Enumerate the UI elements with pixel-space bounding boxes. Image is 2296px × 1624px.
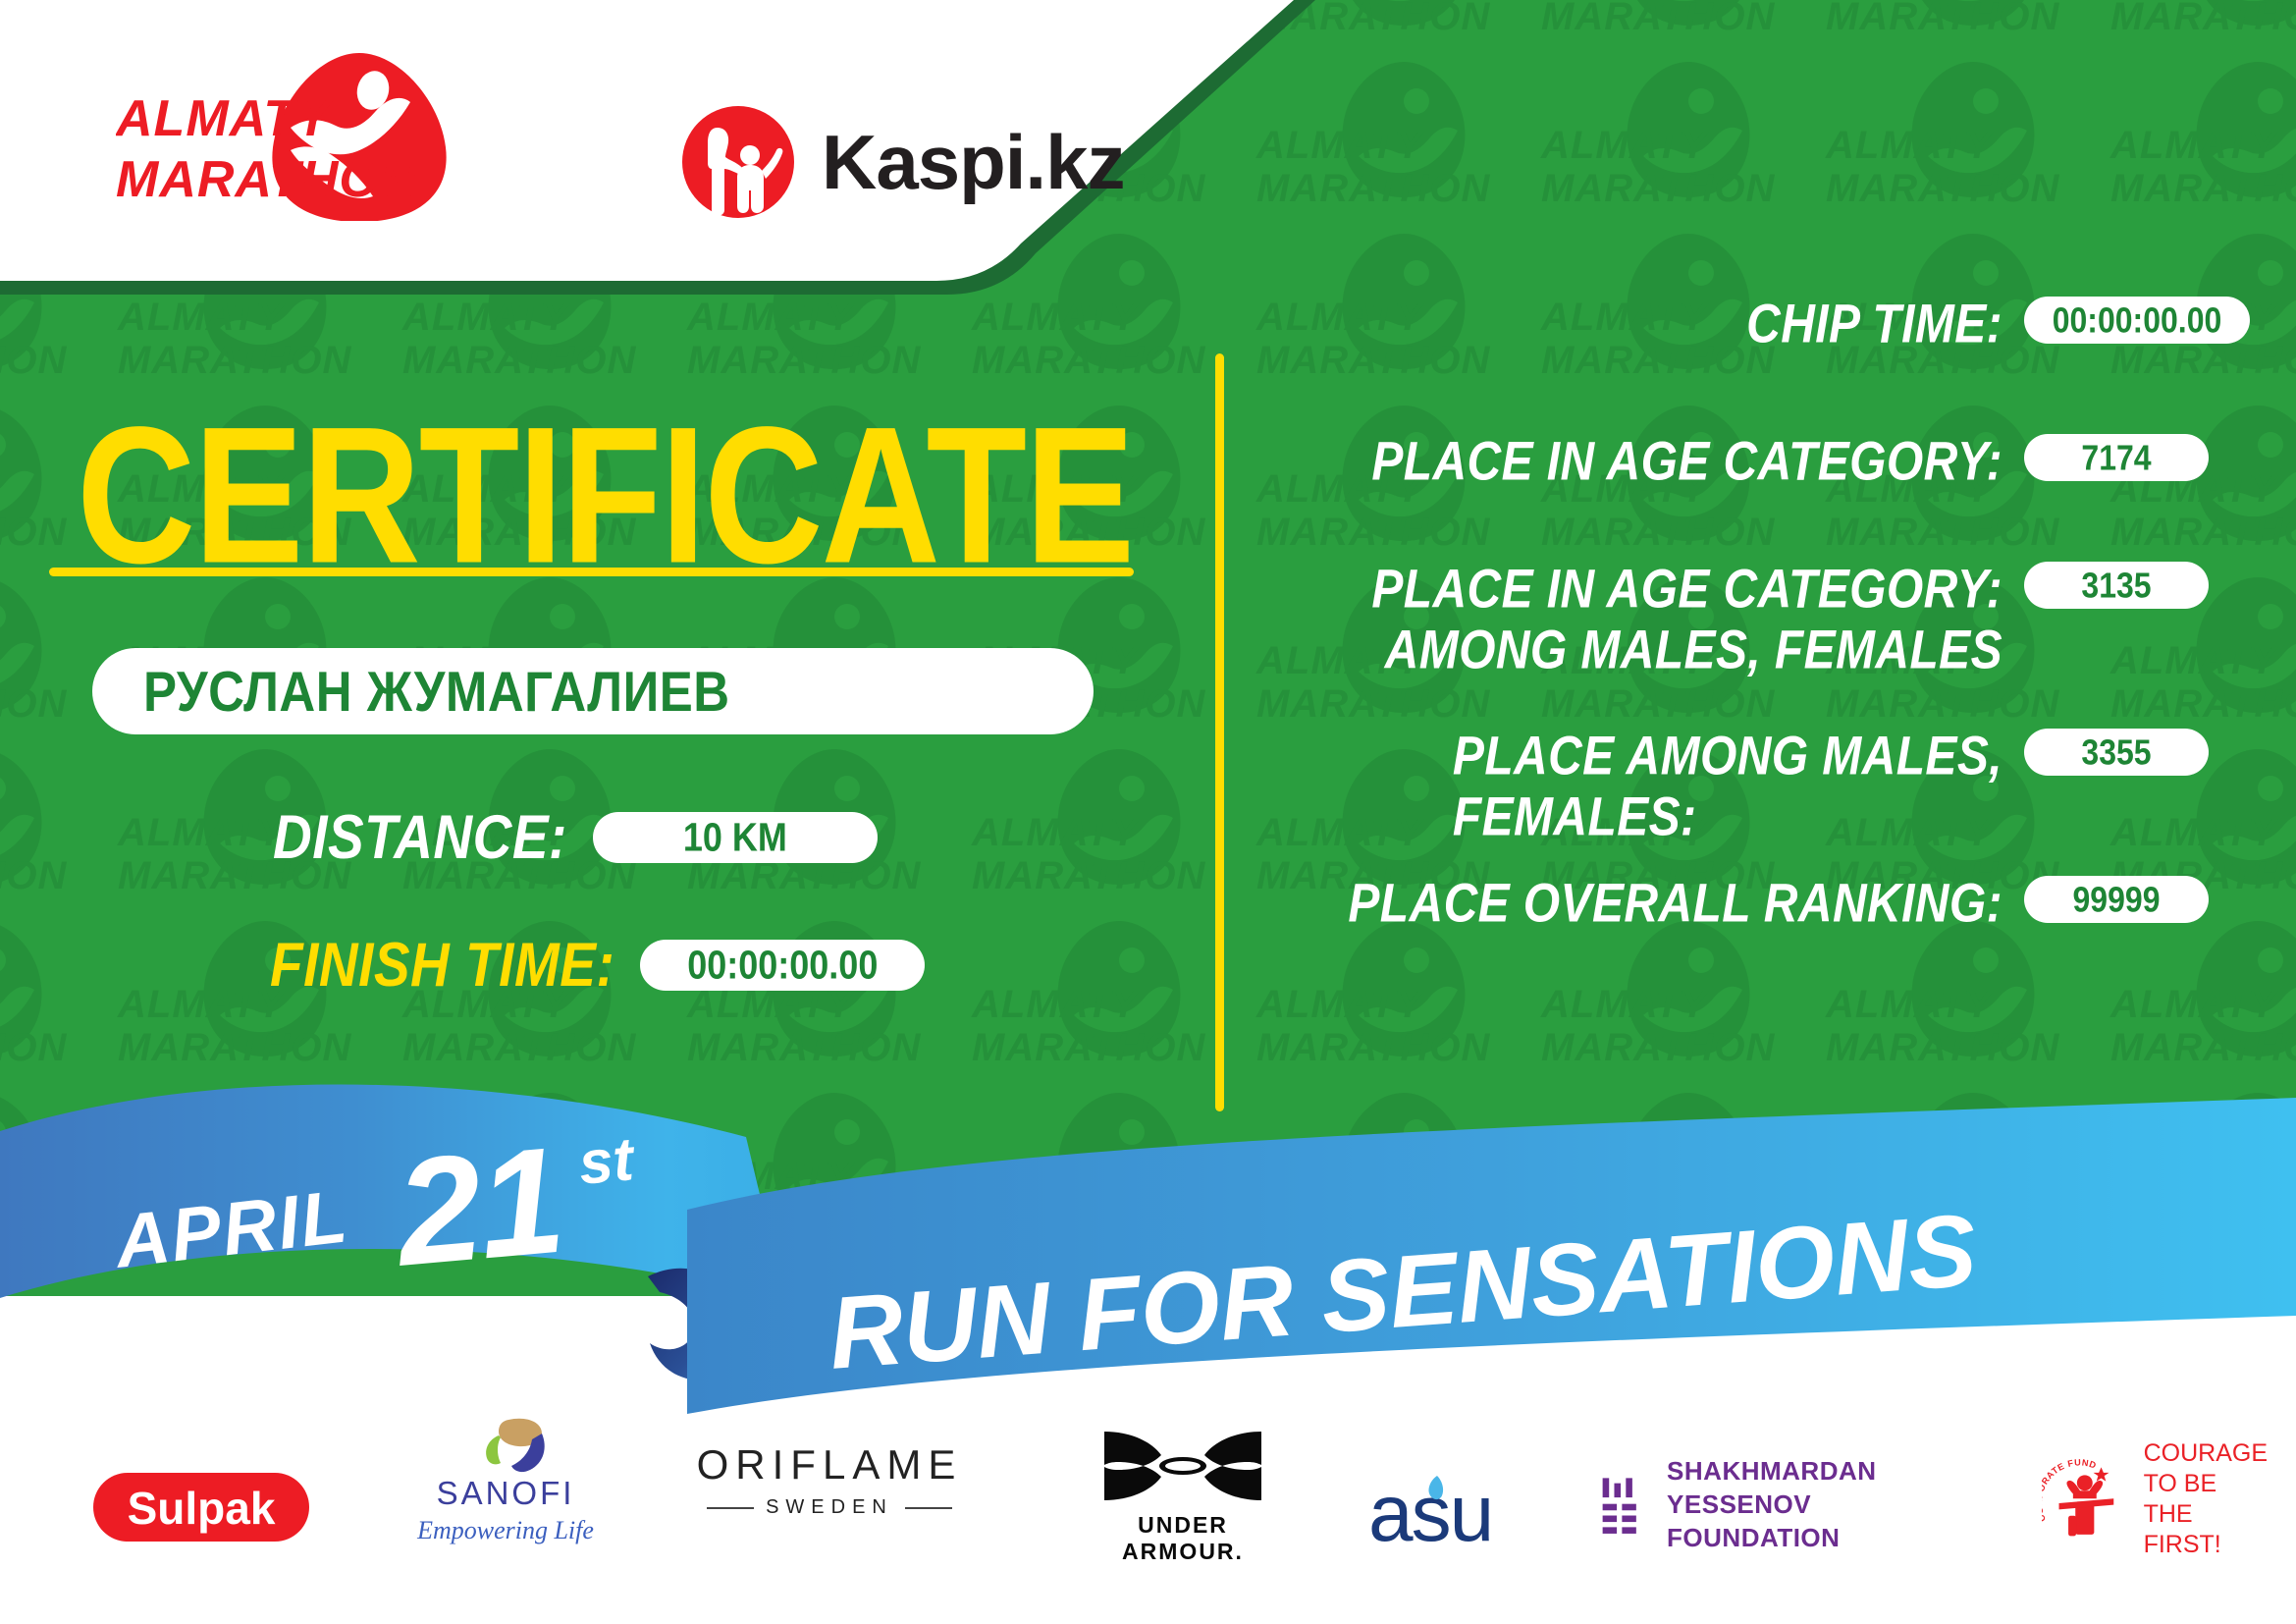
stat-label-wrap: PLACE AMONG MALES, FEMALES: <box>1276 727 2002 833</box>
sponsor-logo-strip: Sulpak SANOFI Empowering Life ORIFLAME S… <box>0 1414 2296 1610</box>
column-divider <box>1215 353 1224 1111</box>
stat-pill: 99999 <box>2024 876 2209 923</box>
stat-value: 7174 <box>2081 437 2151 477</box>
asu-wordmark: asu <box>1368 1469 1492 1554</box>
sponsor-sanofi: SANOFI Empowering Life <box>393 1414 618 1561</box>
stat-label-wrap: PLACE OVERALL RANKING: <box>1276 874 2002 927</box>
asu-logo: asu <box>1364 1464 1541 1554</box>
stat-label: PLACE IN AGE CATEGORY: AMONG MALES, FEMA… <box>1371 560 2002 681</box>
distance-pill: 10 KM <box>593 812 878 863</box>
stat-pill: 00:00:00.00 <box>2024 297 2250 344</box>
almaty-marathon-logo-svg: ALMATY MARATHON <box>116 49 450 221</box>
stat-label: PLACE OVERALL RANKING: <box>1348 874 2002 935</box>
distance-row: DISTANCE: 10 KM <box>273 810 878 864</box>
sponsor-oriflame: ORIFLAME SWEDEN <box>687 1441 972 1589</box>
certificate-canvas: ALMATY MARATHON <box>0 0 2296 1624</box>
stat-value: 00:00:00.00 <box>2053 299 2222 340</box>
participant-name-value: РУСЛАН ЖУМАГАЛИЕВ <box>143 659 730 724</box>
stat-pill: 3135 <box>2024 562 2209 609</box>
stat-label: PLACE AMONG MALES, FEMALES: <box>1453 727 2002 848</box>
sponsor-courage-to-be-first: CORPORATE FUND COURAGE TO BE THE FIRST! <box>2042 1426 2268 1573</box>
oriflame-rule-right <box>905 1507 952 1509</box>
almaty-wordmark-line2: MARATHON <box>116 151 418 208</box>
almaty-marathon-logo: ALMATY MARATHON <box>116 49 450 221</box>
sponsor-asu: asu <box>1364 1435 1541 1583</box>
kaspi-wordmark: Kaspi.kz <box>822 124 1124 200</box>
title-underline-rule <box>49 568 1134 576</box>
sanofi-wordmark: SANOFI <box>393 1475 618 1512</box>
oriflame-country: SWEDEN <box>766 1496 893 1519</box>
finish-time-row: FINISH TIME: 00:00:00.00 <box>270 938 925 992</box>
finish-time-value: 00:00:00.00 <box>687 942 878 988</box>
stat-label-wrap: PLACE IN AGE CATEGORY: AMONG MALES, FEMA… <box>1276 560 2002 666</box>
kaspi-people-circle-icon <box>677 104 800 220</box>
stat-row: CHIP TIME: 00:00:00.00 <box>1276 295 2296 348</box>
stat-pill: 3355 <box>2024 729 2209 776</box>
stat-row: PLACE IN AGE CATEGORY: 7174 <box>1276 432 2296 485</box>
stat-row: PLACE AMONG MALES, FEMALES: 3355 <box>1276 727 2296 833</box>
stat-row: PLACE OVERALL RANKING: 99999 <box>1276 874 2296 927</box>
stat-label-wrap: CHIP TIME: <box>1276 295 2002 348</box>
stat-pill: 7174 <box>2024 434 2209 481</box>
sanofi-tagline: Empowering Life <box>393 1516 618 1545</box>
ribbon-day-number: 21 <box>390 1113 568 1301</box>
stat-row: PLACE IN AGE CATEGORY: AMONG MALES, FEMA… <box>1276 560 2296 666</box>
sulpak-wordmark: Sulpak <box>128 1483 276 1534</box>
kaspi-logo: Kaspi.kz <box>677 103 1090 221</box>
stat-value: 99999 <box>2073 879 2161 919</box>
under-armour-wordmark: UNDER ARMOUR. <box>1075 1512 1291 1565</box>
under-armour-icon <box>1075 1426 1291 1506</box>
finish-time-label: FINISH TIME: <box>270 934 614 996</box>
stat-label: PLACE IN AGE CATEGORY: <box>1371 432 2002 493</box>
stat-value: 3135 <box>2081 565 2151 605</box>
header-logo-row: ALMATY MARATHON Kaspi.kz <box>0 0 1178 281</box>
yessenov-bars-icon <box>1600 1468 1645 1543</box>
stat-value: 3355 <box>2081 731 2151 772</box>
oriflame-sub-row: SWEDEN <box>687 1496 972 1519</box>
left-column: CERTIFICATE РУСЛАН ЖУМАГАЛИЕВ DISTANCE: … <box>0 295 1178 1178</box>
participant-name-field: РУСЛАН ЖУМАГАЛИЕВ <box>92 648 1094 734</box>
sponsor-under-armour: UNDER ARMOUR. <box>1075 1426 1291 1573</box>
sponsor-sulpak: Sulpak <box>93 1434 309 1581</box>
stat-label-wrap: PLACE IN AGE CATEGORY: <box>1276 432 2002 485</box>
distance-value: 10 KM <box>683 814 787 860</box>
ribbon-left-band <box>0 1085 785 1301</box>
ribbon-day-suffix: st <box>576 1124 636 1199</box>
sulpak-logo: Sulpak <box>93 1463 309 1551</box>
sponsor-yessenov-foundation: SHAKHMARDAN YESSENOV FOUNDATION <box>1600 1432 1953 1579</box>
courage-slogan: COURAGE TO BE THE FIRST! <box>2144 1438 2268 1561</box>
stats-column: CHIP TIME: 00:00:00.00 PLACE IN AGE CATE… <box>1276 295 2296 1178</box>
courage-runner-icon: CORPORATE FUND <box>2042 1450 2128 1548</box>
oriflame-rule-left <box>707 1507 754 1509</box>
distance-label: DISTANCE: <box>273 806 567 868</box>
almaty-wordmark-line1: ALMATY <box>116 90 334 147</box>
stat-label: CHIP TIME: <box>1746 295 2002 355</box>
certificate-title: CERTIFICATE <box>77 398 1133 592</box>
sanofi-mark-icon <box>393 1414 618 1475</box>
oriflame-wordmark: ORIFLAME <box>687 1441 972 1489</box>
finish-time-pill: 00:00:00.00 <box>640 940 925 991</box>
yessenov-wordmark: SHAKHMARDAN YESSENOV FOUNDATION <box>1667 1455 1953 1554</box>
